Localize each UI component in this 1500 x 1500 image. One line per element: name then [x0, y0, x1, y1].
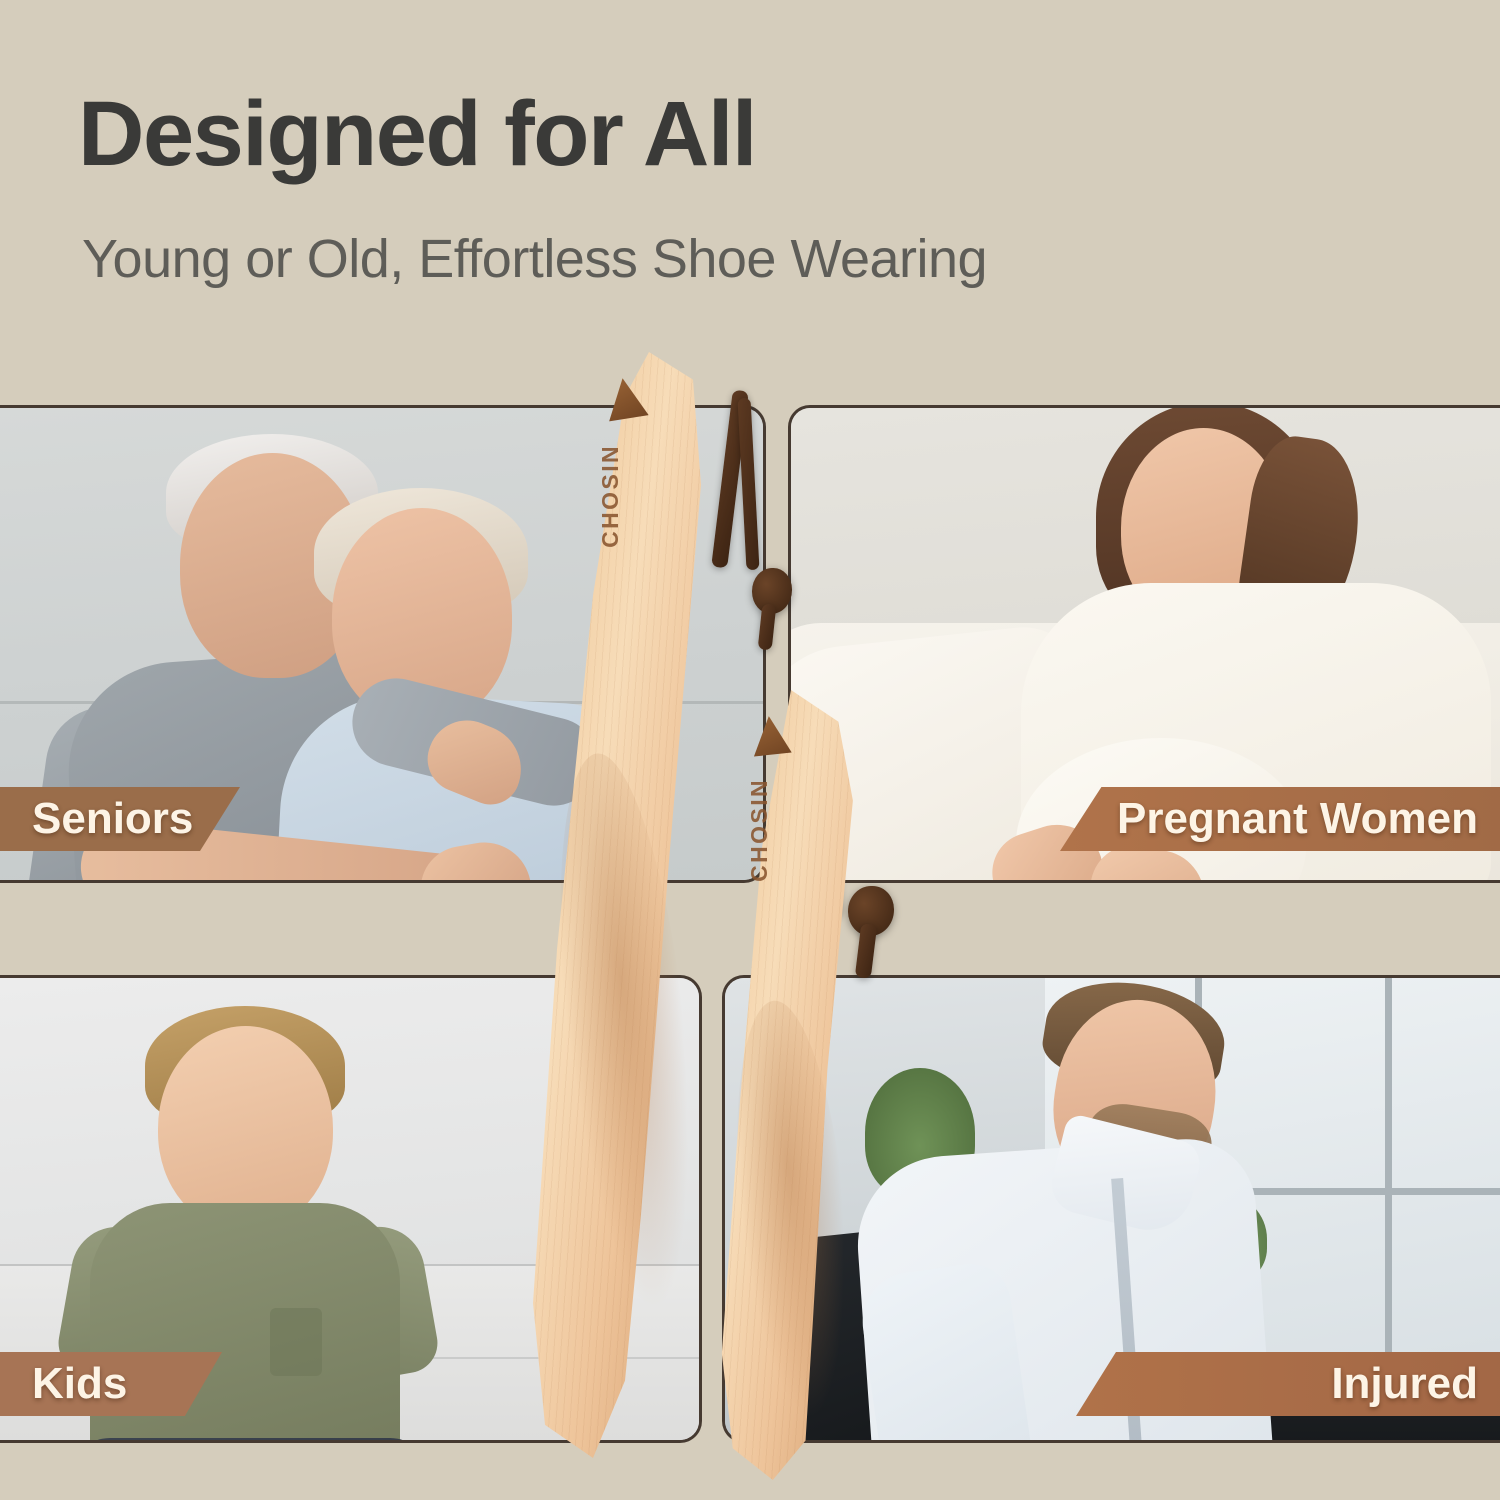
leather-strap-tail [855, 923, 877, 979]
label-pregnant-women: Pregnant Women [1060, 787, 1500, 851]
boy-head [158, 1026, 333, 1231]
page-subtitle: Young or Old, Effortless Shoe Wearing [82, 232, 987, 286]
window-mullion [1385, 975, 1392, 1368]
tshirt-pocket [270, 1308, 322, 1376]
header: Designed for All Young or Old, Effortles… [0, 0, 1500, 405]
label-seniors: Seniors [0, 787, 240, 851]
boy-pants [70, 1438, 430, 1443]
label-kids: Kids [0, 1352, 222, 1416]
leather-strap-knot [848, 886, 894, 936]
page-title: Designed for All [78, 88, 756, 180]
label-injured: Injured [1076, 1352, 1500, 1416]
